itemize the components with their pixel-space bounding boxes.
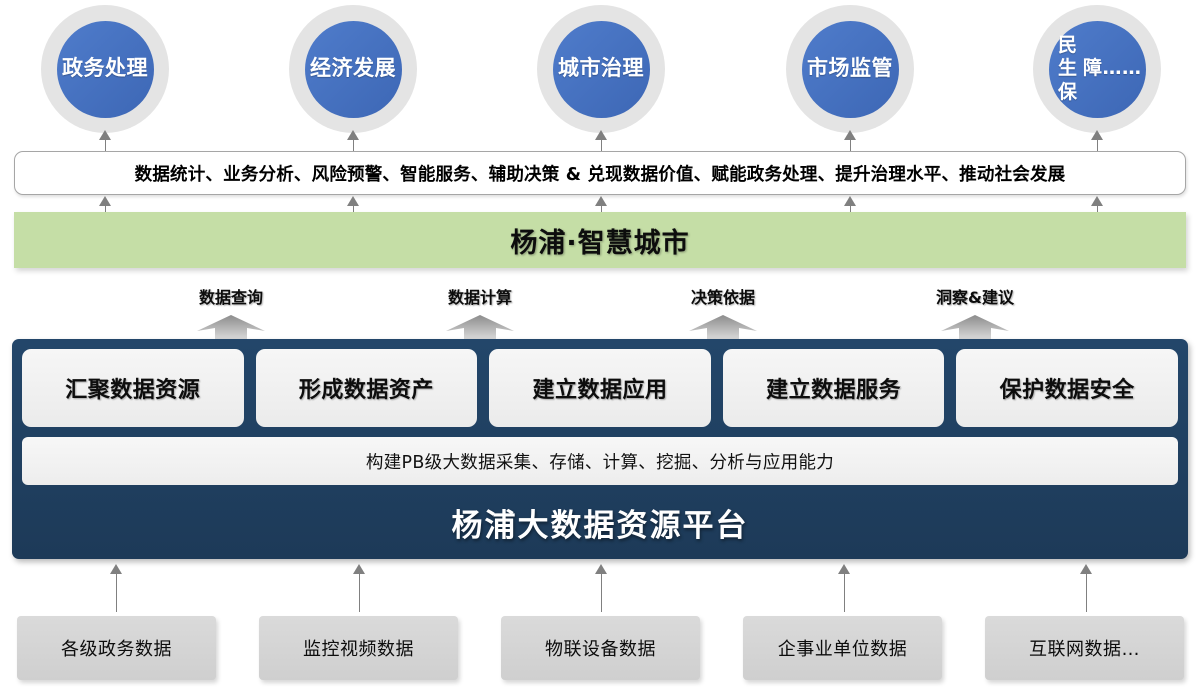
outcome-circle-label: 城市 治理 [553,21,650,118]
flow-label-decision-basis: 决策依据 [648,284,798,308]
outcome-line-1: 政务 [62,56,105,82]
outcome-circle-livelihood[interactable]: 民生保 障…… [1033,5,1161,133]
arrow-up-from-enterprise-data [838,564,851,612]
arrowhead-icon [99,196,111,206]
outcome-line-2: 处理 [105,56,148,82]
outcome-circle-urban-governance[interactable]: 城市 治理 [537,5,665,133]
capability-box-build-data-services[interactable]: 建立数据服务 [723,349,945,427]
arrowhead-icon [595,196,607,206]
outcome-line-1: 民生保 [1053,34,1083,104]
outcome-circle-economy[interactable]: 经济 发展 [289,5,417,133]
architecture-diagram: 政务 处理 经济 发展 城市 治理 市场 监管 民生保 [0,0,1200,700]
outcome-circle-label: 政务 处理 [57,21,154,118]
outcome-circle-label: 经济 发展 [305,21,402,118]
arrowhead-icon [353,564,365,574]
arrow-up-citybar-3 [595,196,608,212]
block-arrow-data-query [195,314,267,339]
outcome-line-1: 经济 [310,56,353,82]
block-arrow-insight-advice [939,314,1011,339]
source-box-internet-data[interactable]: 互联网数据… [985,616,1184,680]
source-box-enterprise-data[interactable]: 企事业单位数据 [743,616,942,680]
arrow-up-citybar-5 [1091,196,1104,212]
outcome-circle-market-regulation[interactable]: 市场 监管 [786,5,914,133]
capability-box-protect-data-security[interactable]: 保护数据安全 [956,349,1178,427]
arrowhead-icon [1091,196,1103,206]
arrow-up-citybar-2 [347,196,360,212]
big-data-platform-panel: 汇聚数据资源 形成数据资产 建立数据应用 建立数据服务 保护数据安全 构建PB级… [12,339,1188,559]
block-arrow-icon [687,314,759,339]
value-proposition-banner: 数据统计、业务分析、风险预警、智能服务、辅助决策 & 兑现数据价值、赋能政务处理… [14,151,1186,195]
outcome-line-1: 市场 [807,56,850,82]
capability-box-form-data-assets[interactable]: 形成数据资产 [256,349,478,427]
arrowhead-icon [844,196,856,206]
arrow-up-from-government-data [110,564,123,612]
capability-row: 汇聚数据资源 形成数据资产 建立数据应用 建立数据服务 保护数据安全 [22,349,1178,427]
capability-box-build-data-applications[interactable]: 建立数据应用 [489,349,711,427]
block-arrow-icon [195,314,267,339]
smart-city-bar: 杨浦·智慧城市 [14,212,1186,268]
flow-label-data-query: 数据查询 [156,284,306,308]
arrow-up-from-iot-data [595,564,608,612]
source-box-iot-data[interactable]: 物联设备数据 [501,616,700,680]
outcome-line-2: 监管 [850,56,893,82]
outcome-line-2: 治理 [601,56,644,82]
arrowhead-icon [110,564,122,574]
arrowhead-icon [595,564,607,574]
platform-title: 杨浦大数据资源平台 [12,491,1188,553]
arrow-up-citybar-1 [99,196,112,212]
arrow-up-from-internet-data [1080,564,1093,612]
arrowhead-icon [1080,564,1092,574]
outcome-circle-row: 政务 处理 经济 发展 城市 治理 市场 监管 民生保 [0,5,1200,135]
outcome-line-2: 障…… [1083,57,1142,80]
outcome-circle-government[interactable]: 政务 处理 [41,5,169,133]
outcome-line-1: 城市 [558,56,601,82]
flow-label-insight-advice: 洞察&建议 [900,284,1050,308]
block-arrow-icon [444,314,516,339]
pb-capability-bar: 构建PB级大数据采集、存储、计算、挖掘、分析与应用能力 [22,437,1178,485]
arrow-up-citybar-4 [844,196,857,212]
arrowhead-icon [347,196,359,206]
block-arrow-decision-basis [687,314,759,339]
source-box-government-data[interactable]: 各级政务数据 [17,616,216,680]
outcome-circle-label: 民生保 障…… [1049,21,1146,118]
capability-box-aggregate-data-resources[interactable]: 汇聚数据资源 [22,349,244,427]
flow-label-data-compute: 数据计算 [405,284,555,308]
outcome-line-2: 发展 [353,56,396,82]
block-arrow-data-compute [444,314,516,339]
arrow-up-from-video-data [353,564,366,612]
arrowhead-icon [838,564,850,574]
outcome-circle-label: 市场 监管 [802,21,899,118]
source-box-video-data[interactable]: 监控视频数据 [259,616,458,680]
block-arrow-icon [939,314,1011,339]
